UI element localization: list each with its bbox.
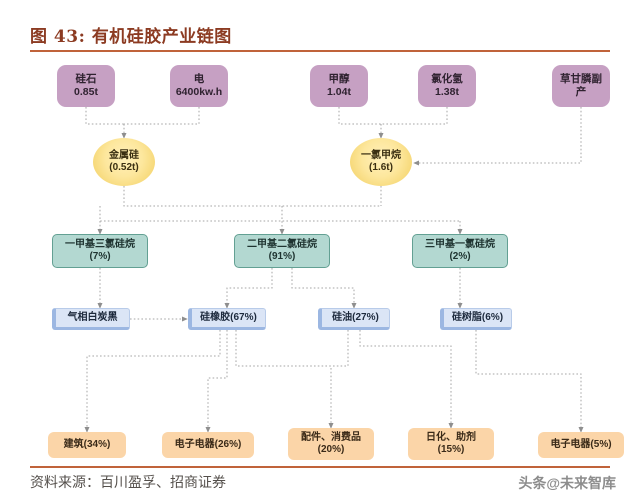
industry-chain-diagram: 硅石 0.85t 电 6400kw.h 甲醇 1.04t 氯化氢 1.38t 草… — [0, 56, 640, 462]
node-intermediate-metallic-silicon[interactable]: 金属硅 (0.52t) — [93, 138, 155, 186]
node-raw-hydrogen-chloride[interactable]: 氯化氢 1.38t — [418, 65, 476, 107]
node-monomer-dimethyldichlorosilane[interactable]: 二甲基二氯硅烷 (91%) — [234, 234, 330, 268]
node-monomer-trimethylchlorosilane[interactable]: 三甲基一氯硅烷 (2%) — [412, 234, 508, 268]
node-monomer-methyltrichlorosilane[interactable]: 一甲基三氯硅烷 (7%) — [52, 234, 148, 268]
footer-divider — [30, 466, 610, 468]
source-note: 资料来源：百川盈孚、招商证券 — [30, 472, 226, 492]
node-application-parts-consumer-goods[interactable]: 配件、消费品 (20%) — [288, 428, 374, 460]
node-application-electronics-26[interactable]: 电子电器(26%) — [162, 432, 254, 458]
node-raw-silica[interactable]: 硅石 0.85t — [57, 65, 115, 107]
node-raw-glyphosate-byproduct[interactable]: 草甘膦副 产 — [552, 65, 610, 107]
node-raw-methanol[interactable]: 甲醇 1.04t — [310, 65, 368, 107]
node-product-fumed-silica[interactable]: 气相白炭黑 — [52, 308, 130, 330]
node-application-construction[interactable]: 建筑(34%) — [48, 432, 126, 458]
watermark-label: 头条@未来智库 — [518, 473, 616, 493]
node-application-electronics-5[interactable]: 电子电器(5%) — [538, 432, 624, 458]
node-product-silicone-oil[interactable]: 硅油(27%) — [318, 308, 390, 330]
page-title: 图 43: 有机硅胶产业链图 — [30, 22, 232, 47]
node-raw-electricity[interactable]: 电 6400kw.h — [170, 65, 228, 107]
node-intermediate-methyl-chloride[interactable]: 一氯甲烷 (1.6t) — [350, 138, 412, 186]
title-divider — [30, 50, 610, 52]
node-product-silicone-resin[interactable]: 硅树脂(6%) — [440, 308, 512, 330]
node-application-daily-chemical-additives[interactable]: 日化、助剂 (15%) — [408, 428, 494, 460]
node-product-silicone-rubber[interactable]: 硅橡胶(67%) — [188, 308, 266, 330]
figure-page: 图 43: 有机硅胶产业链图 — [0, 0, 640, 501]
